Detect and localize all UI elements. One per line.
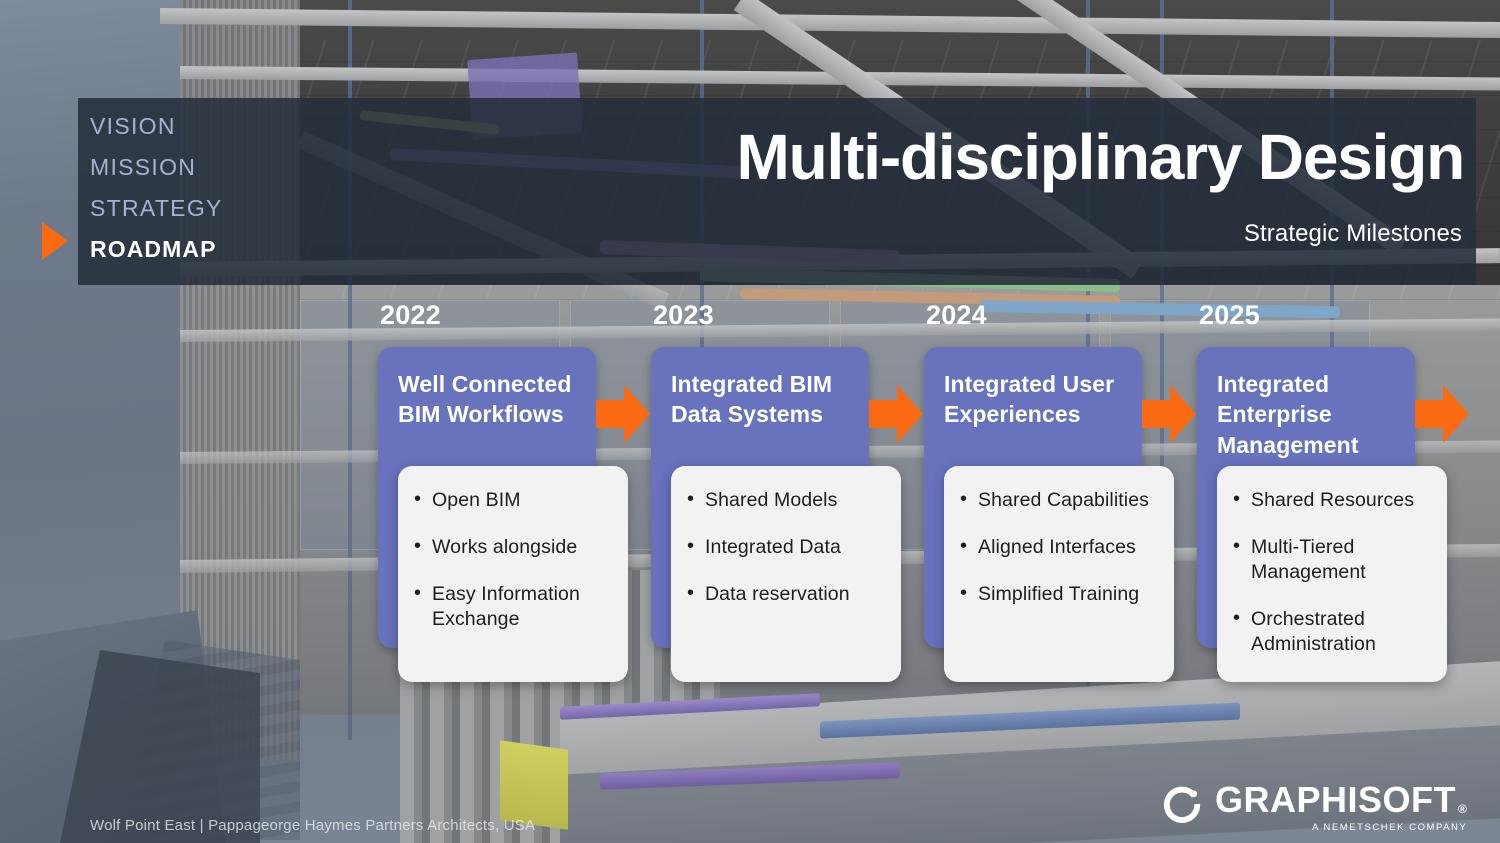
list-item: Shared Capabilities xyxy=(958,488,1158,513)
milestone-bullet-list: Open BIM Works alongside Easy Informatio… xyxy=(412,488,612,632)
timeline-arrow-icon xyxy=(1415,385,1469,443)
milestone-bullet-list: Shared Resources Multi-Tiered Management… xyxy=(1231,488,1431,657)
list-item: Shared Resources xyxy=(1231,488,1431,513)
milestone-title: Integrated User Experiences xyxy=(944,369,1128,430)
list-item: Easy Information Exchange xyxy=(412,582,612,632)
list-item: Orchestrated Administration xyxy=(1231,607,1431,657)
milestone-title: Integrated BIM Data Systems xyxy=(671,369,855,430)
milestone-detail-card[interactable]: Shared Models Integrated Data Data reser… xyxy=(671,466,901,682)
slide-multi-disciplinary-design: VISION MISSION STRATEGY ROADMAP Multi-di… xyxy=(0,0,1500,843)
milestone-title: Well Connected BIM Workflows xyxy=(398,369,582,430)
logo-tagline: A NEMETSCHEK COMPANY xyxy=(1312,822,1467,833)
timeline-arrow-icon xyxy=(1142,385,1196,443)
list-item: Integrated Data xyxy=(685,535,885,560)
milestone-detail-card[interactable]: Open BIM Works alongside Easy Informatio… xyxy=(398,466,628,682)
list-item: Open BIM xyxy=(412,488,612,513)
graphisoft-logo: GRAPHISOFT ® A NEMETSCHEK COMPANY xyxy=(1163,783,1467,833)
list-item: Multi-Tiered Management xyxy=(1231,535,1431,585)
milestone-year: 2023 xyxy=(653,300,714,331)
timeline-arrow-icon xyxy=(596,385,650,443)
list-item: Data reservation xyxy=(685,582,885,607)
image-credit-caption: Wolf Point East | Pappageorge Haymes Par… xyxy=(90,817,535,834)
list-item: Works alongside xyxy=(412,535,612,560)
registered-trademark-icon: ® xyxy=(1458,803,1467,815)
list-item: Simplified Training xyxy=(958,582,1158,607)
milestone-year: 2025 xyxy=(1199,300,1260,331)
list-item: Shared Models xyxy=(685,488,885,513)
logo-wordmark-text: GRAPHISOFT xyxy=(1215,783,1456,817)
milestone-title: Integrated Enterprise Management xyxy=(1217,369,1401,460)
milestone-bullet-list: Shared Capabilities Aligned Interfaces S… xyxy=(958,488,1158,607)
roadmap-timeline: 2022 Well Connected BIM Workflows Open B… xyxy=(0,0,1500,843)
milestone-year: 2024 xyxy=(926,300,987,331)
logo-text-block: GRAPHISOFT ® A NEMETSCHEK COMPANY xyxy=(1215,783,1467,833)
timeline-arrow-icon xyxy=(869,385,923,443)
milestone-detail-card[interactable]: Shared Capabilities Aligned Interfaces S… xyxy=(944,466,1174,682)
milestone-detail-card[interactable]: Shared Resources Multi-Tiered Management… xyxy=(1217,466,1447,682)
list-item: Aligned Interfaces xyxy=(958,535,1158,560)
graphisoft-c-mark-icon xyxy=(1163,785,1201,823)
milestone-bullet-list: Shared Models Integrated Data Data reser… xyxy=(685,488,885,607)
logo-wordmark: GRAPHISOFT ® xyxy=(1215,783,1467,817)
milestone-year: 2022 xyxy=(380,300,441,331)
